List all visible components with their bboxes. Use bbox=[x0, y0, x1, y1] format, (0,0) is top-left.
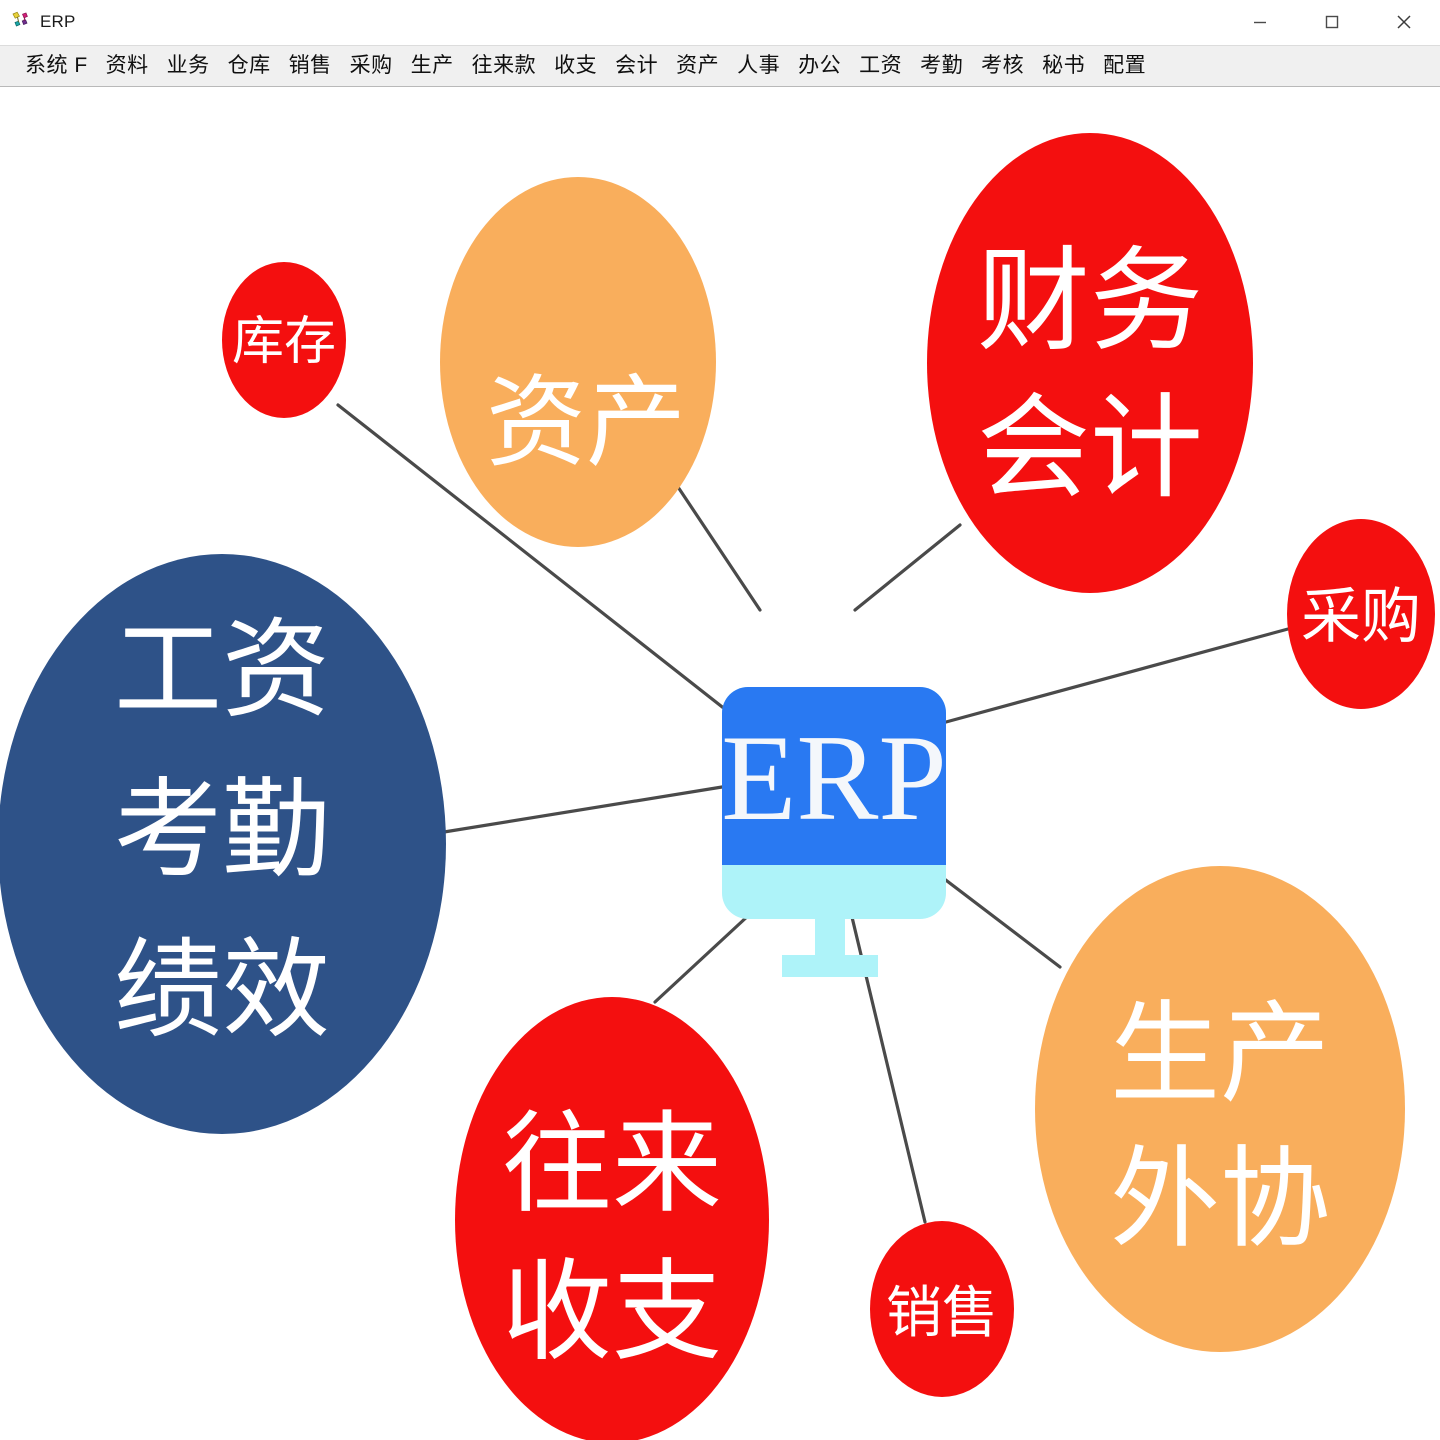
node-receivables-label-line-1: 往来 bbox=[502, 1100, 722, 1228]
node-production-label-line-1: 生产 bbox=[1110, 990, 1330, 1118]
node-inventory[interactable]: 库存 bbox=[222, 262, 346, 418]
node-financial-accounting[interactable]: 财务 会计 bbox=[927, 133, 1253, 593]
menu-item-assets[interactable]: 资产 bbox=[667, 51, 728, 81]
mindmap-svg: ERP 库存 资产 财务 会计 采购 bbox=[0, 87, 1440, 1440]
node-production-label-line-2: 外协 bbox=[1110, 1135, 1330, 1263]
node-receivables-payments[interactable]: 往来 收支 bbox=[455, 997, 769, 1440]
menu-item-current-account[interactable]: 往来款 bbox=[463, 51, 546, 81]
node-procurement[interactable]: 采购 bbox=[1287, 519, 1435, 709]
node-receivables-label-line-2: 收支 bbox=[502, 1248, 722, 1376]
erp-main-window: ERP 系统 F 资料 业务 仓库 销售 采购 生产 往来款 收支 会计 资产 … bbox=[0, 0, 1440, 1440]
menu-item-configuration[interactable]: 配置 bbox=[1094, 51, 1155, 81]
node-inventory-label-line-1: 库存 bbox=[232, 312, 336, 372]
node-payroll-attendance-performance[interactable]: 工资 考勤 绩效 bbox=[0, 554, 446, 1134]
erp-app-icon bbox=[9, 11, 31, 33]
node-production-outsourcing[interactable]: 生产 外协 bbox=[1035, 866, 1405, 1352]
menu-item-office[interactable]: 办公 bbox=[789, 51, 850, 81]
node-payroll-label-line-3: 绩效 bbox=[114, 928, 330, 1053]
node-sales[interactable]: 销售 bbox=[870, 1221, 1014, 1397]
close-icon[interactable] bbox=[1368, 0, 1440, 44]
node-sales-label-line-1: 销售 bbox=[886, 1281, 998, 1346]
node-assets-shape bbox=[440, 177, 716, 547]
menu-item-warehouse[interactable]: 仓库 bbox=[219, 51, 280, 81]
node-payroll-label-line-2: 考勤 bbox=[114, 768, 330, 893]
node-procurement-label-line-1: 采购 bbox=[1301, 582, 1421, 652]
node-assets[interactable]: 资产 bbox=[440, 177, 716, 547]
link-erp-procurement bbox=[946, 629, 1288, 722]
link-erp-financial bbox=[855, 525, 960, 610]
erp-center-node[interactable]: ERP bbox=[721, 687, 947, 977]
node-assets-label-line-1: 资产 bbox=[486, 364, 686, 481]
menu-item-business[interactable]: 业务 bbox=[158, 51, 219, 81]
menu-item-receipts-payments[interactable]: 收支 bbox=[545, 51, 606, 81]
menu-item-accounting[interactable]: 会计 bbox=[606, 51, 667, 81]
window-controls bbox=[1224, 0, 1440, 44]
menu-item-sales[interactable]: 销售 bbox=[280, 51, 341, 81]
menu-item-personnel[interactable]: 人事 bbox=[728, 51, 789, 81]
node-financial-accounting-label-line-1: 财务 bbox=[977, 235, 1203, 367]
minimize-icon[interactable] bbox=[1224, 0, 1296, 44]
menu-item-data[interactable]: 资料 bbox=[97, 51, 158, 81]
maximize-icon[interactable] bbox=[1296, 0, 1368, 44]
node-payroll-label-line-1: 工资 bbox=[114, 608, 330, 733]
erp-mindmap-canvas: ERP 库存 资产 财务 会计 采购 bbox=[0, 87, 1440, 1440]
menu-item-secretary[interactable]: 秘书 bbox=[1033, 51, 1094, 81]
menu-item-procurement[interactable]: 采购 bbox=[341, 51, 402, 81]
title-bar-left: ERP bbox=[0, 11, 76, 33]
link-erp-assets bbox=[678, 487, 760, 610]
link-erp-sales bbox=[840, 867, 925, 1222]
menu-item-appraisal[interactable]: 考核 bbox=[972, 51, 1033, 81]
window-title: ERP bbox=[40, 12, 76, 32]
menu-item-production[interactable]: 生产 bbox=[402, 51, 463, 81]
menu-item-system[interactable]: 系统 F bbox=[16, 51, 97, 81]
link-erp-payroll bbox=[444, 787, 722, 832]
menu-item-attendance[interactable]: 考勤 bbox=[911, 51, 972, 81]
title-bar: ERP bbox=[0, 0, 1440, 45]
menu-bar: 系统 F 资料 业务 仓库 销售 采购 生产 往来款 收支 会计 资产 人事 办… bbox=[0, 45, 1440, 87]
menu-item-payroll[interactable]: 工资 bbox=[850, 51, 911, 81]
node-financial-accounting-label-line-2: 会计 bbox=[977, 382, 1203, 514]
erp-center-label: ERP bbox=[721, 709, 947, 846]
